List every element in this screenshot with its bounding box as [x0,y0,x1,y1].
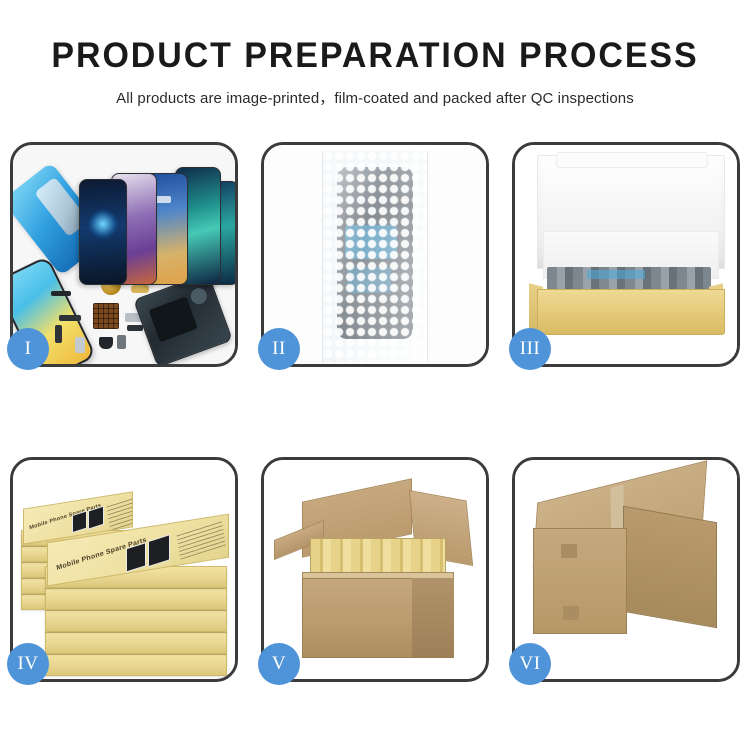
retail-box-spec-lines-front [176,518,226,559]
carton-tab-lower [563,606,579,620]
infographic-page: PRODUCT PREPARATION PROCESS All products… [0,0,750,750]
panel-image-products [13,145,235,364]
retail-box-front-2 [45,588,227,610]
phone-lineup [77,159,235,285]
retail-box-screen-image-3 [126,542,146,572]
page-subtitle: All products are image-printed，film-coat… [0,76,750,108]
sealed-carton-side-right [623,506,717,629]
panel-badge-4: IV [7,643,49,685]
mailer-box-front [537,289,725,335]
panel-product-assortment[interactable]: I [10,142,238,367]
panel-inner-mailer-box[interactable]: III [512,142,740,367]
panel-badge-3: III [509,328,551,370]
panel-badge-2: II [258,328,300,370]
part-ribbon [127,325,143,331]
panel-row-top: I II [10,142,740,367]
part-bracket [59,315,81,321]
retail-box-front-3 [45,610,227,632]
film-gloss-overlay [323,151,427,363]
phone-display-1 [79,179,127,285]
part-flex-cable-1 [131,285,149,293]
retail-box-screen-image-1 [72,510,87,533]
chip-array-icon [93,303,119,329]
panel-sealed-shipping-carton[interactable]: VI [512,457,740,682]
part-battery-cell [117,335,126,349]
part-rail [55,325,62,343]
retail-box-front-4 [45,632,227,654]
retail-box-spec-lines-back [106,491,133,530]
panel-badge-1: I [7,328,49,370]
retail-box-screen-image-2 [88,506,104,530]
carton-tab-upper [561,544,577,558]
retail-box-front-5 [45,654,227,676]
panel-image-mailer-box [515,145,737,364]
sealed-carton-side-front [533,528,627,634]
panel-grid: I II [10,142,740,682]
panel-image-retail-boxes: Mobile Phone Spare Parts Mobile Phone Sp… [13,460,235,679]
panel-badge-5: V [258,643,300,685]
carton-body [302,578,454,658]
part-connector [51,291,71,296]
retail-box-stack: Mobile Phone Spare Parts Mobile Phone Sp… [19,474,235,670]
panel-stacked-retail-boxes[interactable]: Mobile Phone Spare Parts Mobile Phone Sp… [10,457,238,682]
panel-row-bottom: Mobile Phone Spare Parts Mobile Phone Sp… [10,457,740,682]
part-sim-tray [75,337,85,353]
panel-bubble-wrap-packing[interactable]: II [261,142,489,367]
panel-image-sealed-carton [515,460,737,679]
retail-box-screen-image-4 [148,534,170,567]
panel-badge-6: VI [509,643,551,685]
panel-image-open-carton [264,460,486,679]
panel-open-shipping-carton[interactable]: V [261,457,489,682]
part-camera-module [99,337,113,349]
page-title: PRODUCT PREPARATION PROCESS [11,0,739,76]
header: PRODUCT PREPARATION PROCESS All products… [0,0,750,108]
panel-image-bubble-wrap [264,145,486,364]
